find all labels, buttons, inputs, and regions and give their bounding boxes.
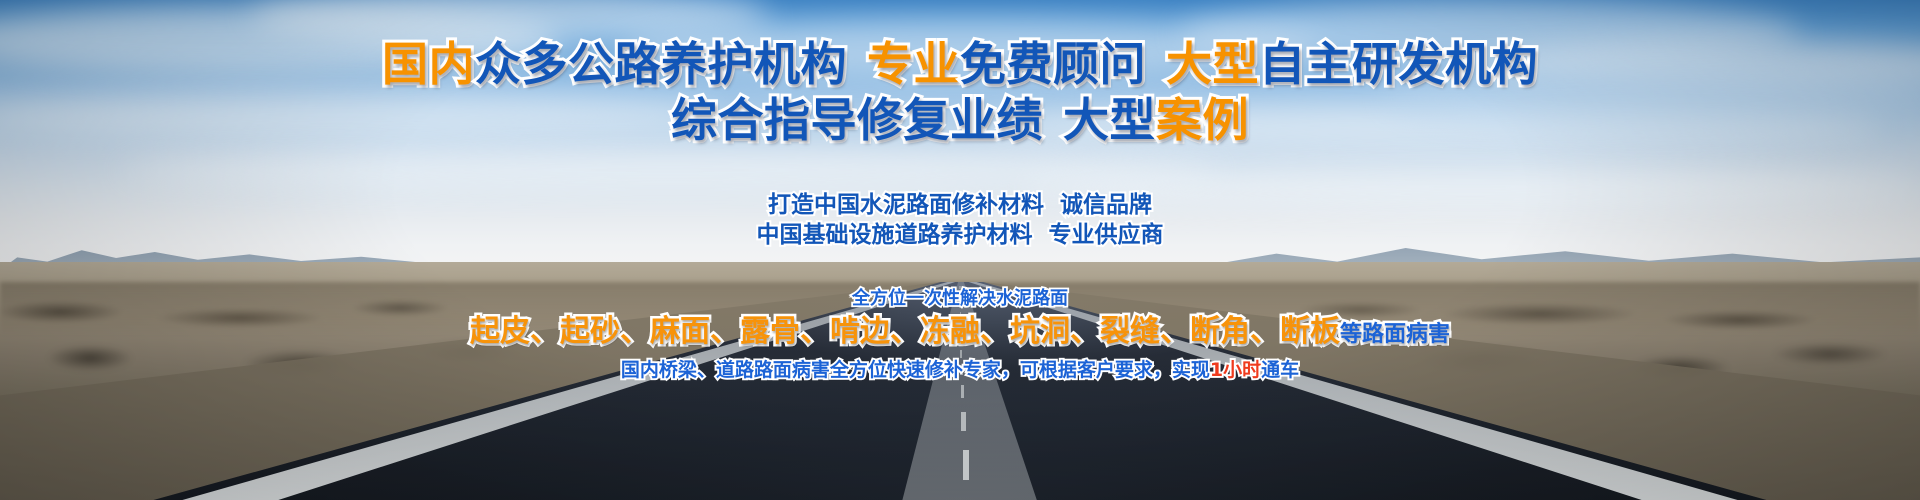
- headline-seg-zonghe: 综合指导修复业绩: [671, 93, 1043, 147]
- headline-seg-zizhu: 自主研发机构: [1259, 37, 1538, 91]
- headline-seg-mianfei: 免费顾问: [960, 37, 1146, 91]
- subtitle-seg-infra: 中国基础设施道路养护材料: [757, 222, 1033, 248]
- lower-text-block: 全方位一次性解决水泥路面 起皮、起砂、麻面、露骨、啃边、冻融、坑洞、裂缝、断角、…: [0, 288, 1920, 383]
- lower-defects-line: 起皮、起砂、麻面、露骨、啃边、冻融、坑洞、裂缝、断角、断板等路面病害: [0, 312, 1920, 355]
- lower-tail-line: 国内桥梁、道路路面病害全方位快速修补专家，可根据客户要求，实现1小时通车: [0, 357, 1920, 383]
- promotional-banner: 国内众多公路养护机构专业免费顾问大型自主研发机构 综合指导修复业绩大型案例 打造…: [0, 0, 1920, 500]
- headline-seg-zhuanye: 专业: [867, 37, 960, 91]
- subtitle-seg-supplier: 专业供应商: [1049, 222, 1164, 248]
- headline-line-1: 国内众多公路养护机构专业免费顾问大型自主研发机构: [0, 36, 1920, 92]
- defect-list-suffix: 等路面病害: [1340, 322, 1450, 347]
- subtitle-seg-material: 打造中国水泥路面修补材料: [768, 192, 1044, 218]
- headline-seg-anli: 案例: [1156, 93, 1249, 147]
- defect-list: 起皮、起砂、麻面、露骨、啃边、冻融、坑洞、裂缝、断角、断板: [470, 314, 1340, 349]
- lower-lead-line: 全方位一次性解决水泥路面: [0, 288, 1920, 310]
- subtitle-line-1: 打造中国水泥路面修补材料诚信品牌: [0, 190, 1920, 220]
- headline-seg-daxing: 大型: [1166, 37, 1259, 91]
- subtitle-line-2: 中国基础设施道路养护材料专业供应商: [0, 220, 1920, 250]
- tail-text-a: 国内桥梁、道路路面病害全方位快速修补专家，可根据客户要求，实现: [621, 359, 1210, 381]
- headline-seg-guonei: 国内: [382, 37, 475, 91]
- headline-seg-daxing2: 大型: [1063, 93, 1156, 147]
- tail-highlight-one-hour: 1小时: [1210, 359, 1261, 381]
- tail-text-b: 通车: [1261, 359, 1299, 381]
- headline-block: 国内众多公路养护机构专业免费顾问大型自主研发机构 综合指导修复业绩大型案例: [0, 36, 1920, 148]
- banner-text-content: 国内众多公路养护机构专业免费顾问大型自主研发机构 综合指导修复业绩大型案例 打造…: [0, 0, 1920, 500]
- subtitle-block: 打造中国水泥路面修补材料诚信品牌 中国基础设施道路养护材料专业供应商: [0, 190, 1920, 250]
- headline-line-2: 综合指导修复业绩大型案例: [0, 92, 1920, 148]
- headline-seg-zhongduo: 众多公路养护机构: [475, 37, 847, 91]
- subtitle-seg-brand: 诚信品牌: [1060, 192, 1152, 218]
